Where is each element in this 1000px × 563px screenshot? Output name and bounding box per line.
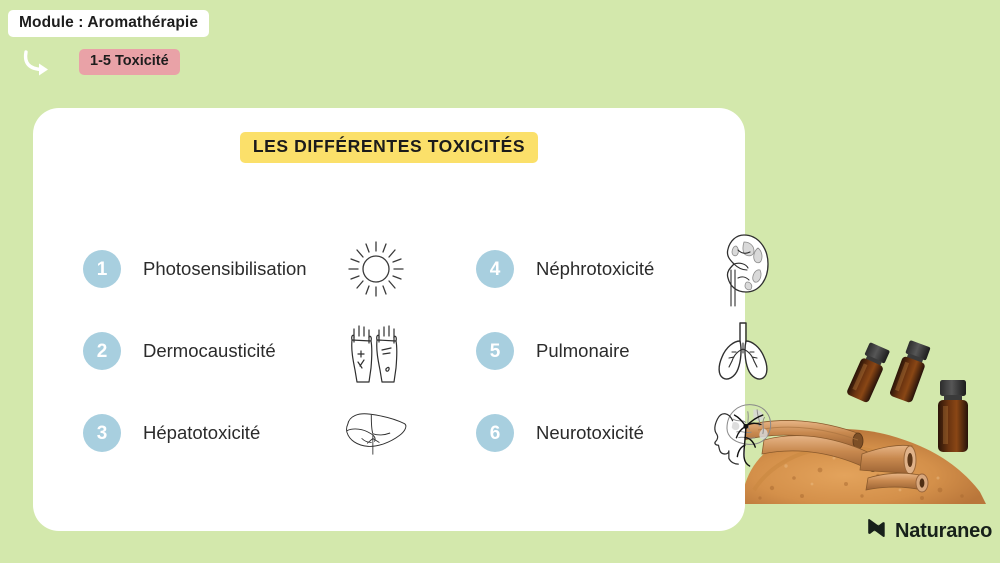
- module-breadcrumb-chip: Module : Aromathérapie: [8, 10, 209, 37]
- brand-name: Naturaneo: [895, 521, 992, 541]
- item-number-badge: 4: [476, 250, 514, 288]
- list-item[interactable]: 4 Néphrotoxicité: [476, 228, 776, 310]
- toxicity-list-left: 1 Photosensibilisation: [83, 228, 413, 474]
- list-item[interactable]: 5 Pulmonaire: [476, 310, 776, 392]
- lesson-badge: 1-5 Toxicité: [79, 49, 180, 75]
- item-label: Hépatotoxicité: [143, 422, 260, 444]
- list-item[interactable]: 6 Neurotoxicité: [476, 392, 776, 474]
- item-label: Photosensibilisation: [143, 258, 307, 280]
- item-label: Pulmonaire: [536, 340, 630, 362]
- curved-arrow-right-icon: [18, 46, 62, 80]
- slide-canvas: Module : Aromathérapie 1-5 Toxicité: [0, 0, 1000, 563]
- item-number-badge: 2: [83, 332, 121, 370]
- hands-skin-burn-icon: [343, 315, 409, 387]
- item-label: Neurotoxicité: [536, 422, 644, 444]
- content-card: LES DIFFÉRENTES TOXICITÉS 1 Photosensibi…: [33, 108, 745, 531]
- toxicity-list-right: 4 Néphrotoxicité: [476, 228, 776, 474]
- naturaneo-leaf-mark-icon: [866, 517, 888, 544]
- cinnamon-powder-and-essential-oil-bottles-photo: [742, 338, 1000, 520]
- item-number-badge: 1: [83, 250, 121, 288]
- liver-icon: [343, 397, 409, 469]
- page-title: LES DIFFÉRENTES TOXICITÉS: [240, 132, 538, 163]
- item-number-badge: 3: [83, 414, 121, 452]
- kidney-icon: [710, 233, 776, 305]
- list-item[interactable]: 3 Hépatotoxicité: [83, 392, 413, 474]
- item-number-badge: 6: [476, 414, 514, 452]
- list-item[interactable]: 2 Dermocausticité: [83, 310, 413, 392]
- item-label: Dermocausticité: [143, 340, 276, 362]
- head-brain-nerves-icon: [710, 397, 776, 469]
- list-item[interactable]: 1 Photosensibilisation: [83, 228, 413, 310]
- sun-icon: [343, 233, 409, 305]
- item-label: Néphrotoxicité: [536, 258, 654, 280]
- card-title-wrap: LES DIFFÉRENTES TOXICITÉS: [33, 132, 745, 163]
- brand-logo: Naturaneo: [866, 517, 992, 544]
- lungs-icon: [710, 315, 776, 387]
- item-number-badge: 5: [476, 332, 514, 370]
